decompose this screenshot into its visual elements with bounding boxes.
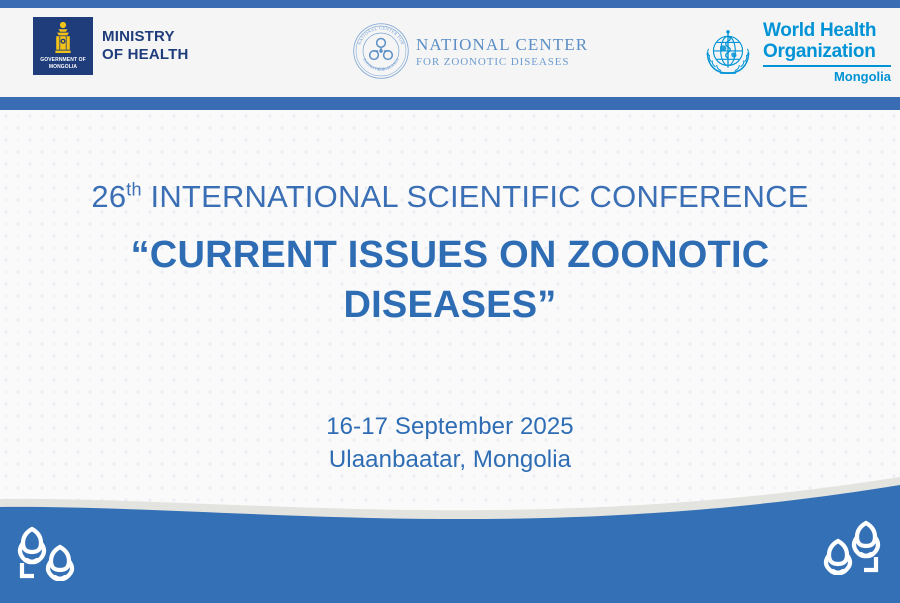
mongolian-knot-ornament-right-icon	[808, 513, 886, 575]
conference-heading-text: INTERNATIONAL SCIENTIFIC CONFERENCE	[142, 179, 809, 214]
soyombo-symbol-icon	[48, 21, 78, 57]
who-divider	[763, 65, 891, 67]
national-center-name-line1: NATIONAL CENTER	[416, 35, 588, 55]
conference-number-suffix: th	[126, 180, 141, 200]
theme-title-line2: DISEASES”	[0, 280, 900, 330]
wave-shape	[0, 463, 900, 603]
ministry-name-line1: MINISTRY	[102, 28, 189, 46]
who-name: World Health Organization Mongolia	[763, 20, 891, 84]
mongolia-government-emblem: GOVERNMENT OF MONGOLIA	[33, 17, 93, 75]
conference-title-slide: GOVERNMENT OF MONGOLIA MINISTRY OF HEALT…	[0, 0, 900, 603]
svg-text:NATIONAL CENTER FOR: NATIONAL CENTER FOR	[357, 26, 406, 46]
theme-title: “CURRENT ISSUES ON ZOONOTIC DISEASES”	[0, 230, 900, 330]
emblem-caption-line1: GOVERNMENT OF	[33, 57, 93, 63]
ministry-name-line2: OF HEALTH	[102, 46, 189, 64]
national-center-zoonotic-diseases-logo: NATIONAL CENTER FOR ZOONOTIC DISEASES 19…	[352, 22, 588, 80]
who-name-line2: Organization	[763, 41, 891, 62]
bottom-wave-decoration	[0, 463, 900, 603]
event-date: 16-17 September 2025	[0, 410, 900, 443]
who-name-line1: World Health	[763, 20, 891, 41]
top-accent-bar	[0, 0, 900, 8]
zoonotic-center-seal-icon: NATIONAL CENTER FOR ZOONOTIC DISEASES 19…	[352, 22, 410, 80]
header-divider-bar	[0, 97, 900, 110]
who-country-label: Mongolia	[763, 69, 891, 84]
title-block: 26th INTERNATIONAL SCIENTIFIC CONFERENCE…	[0, 178, 900, 330]
ministry-of-health-name: MINISTRY OF HEALTH	[102, 28, 189, 64]
emblem-caption-line2: MONGOLIA	[33, 64, 93, 70]
ministry-of-health-logo: GOVERNMENT OF MONGOLIA MINISTRY OF HEALT…	[33, 17, 189, 75]
svg-text:1931: 1931	[377, 68, 385, 72]
mongolian-knot-ornament-left-icon	[12, 519, 90, 581]
national-center-name-line2: FOR ZOONOTIC DISEASES	[416, 56, 588, 68]
national-center-name: NATIONAL CENTER FOR ZOONOTIC DISEASES	[416, 35, 588, 68]
theme-title-line1: “CURRENT ISSUES ON ZOONOTIC	[0, 230, 900, 280]
who-emblem-icon	[700, 24, 756, 80]
who-mongolia-logo: World Health Organization Mongolia	[700, 20, 891, 84]
conference-number: 26	[91, 179, 126, 214]
conference-heading: 26th INTERNATIONAL SCIENTIFIC CONFERENCE	[0, 178, 900, 216]
